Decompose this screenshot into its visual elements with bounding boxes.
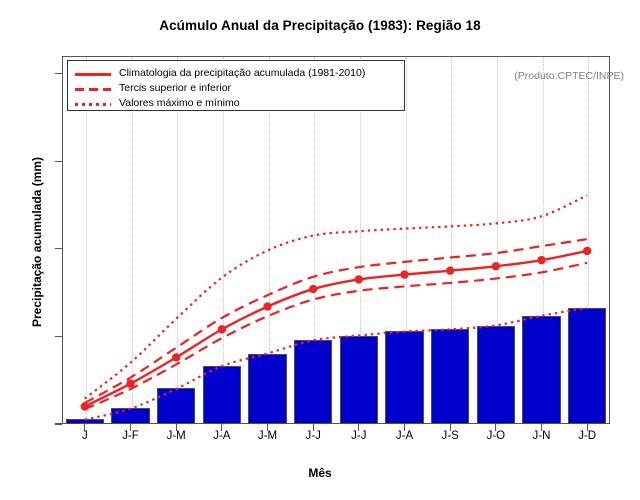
- bar: [294, 340, 332, 424]
- bar: [522, 316, 560, 424]
- legend: Climatologia da precipitação acumulada (…: [67, 60, 405, 111]
- gridline: [177, 57, 179, 425]
- y-tick-mark: [55, 73, 62, 74]
- legend-solid-line-icon: [75, 73, 111, 76]
- y-tick-mark: [55, 336, 62, 337]
- bar: [157, 388, 195, 424]
- x-tick-label: J-D: [557, 430, 617, 442]
- bar: [340, 336, 378, 424]
- x-axis-title: Mês: [0, 466, 640, 480]
- bar: [385, 331, 423, 424]
- bar: [431, 329, 469, 424]
- y-tick-mark: [55, 423, 62, 424]
- legend-item-label: Valores máximo e mínimo: [119, 97, 240, 109]
- y-axis-title: Precipitação acumulada (mm): [30, 92, 44, 392]
- gridline: [86, 57, 88, 425]
- y-tick-mark: [55, 161, 62, 162]
- chart-container: Acúmulo Anual da Precipitação (1983): Re…: [0, 0, 640, 500]
- legend-dotted-line-icon: [75, 103, 111, 106]
- gridline: [132, 57, 134, 425]
- y-tick-mark: [55, 248, 62, 249]
- legend-item-label: Climatologia da precipitação acumulada (…: [119, 67, 365, 79]
- legend-dashed-line-icon: [75, 88, 111, 91]
- legend-item-label: Tercis superior e inferior: [119, 82, 231, 94]
- chart-title: Acúmulo Anual da Precipitação (1983): Re…: [0, 18, 640, 33]
- product-credit: (Produto:CPTEC/INPE): [514, 70, 624, 82]
- bar: [477, 326, 515, 424]
- bar: [568, 308, 606, 424]
- bar: [66, 419, 104, 424]
- bar: [248, 354, 286, 424]
- bar: [111, 408, 149, 424]
- bar: [203, 366, 241, 424]
